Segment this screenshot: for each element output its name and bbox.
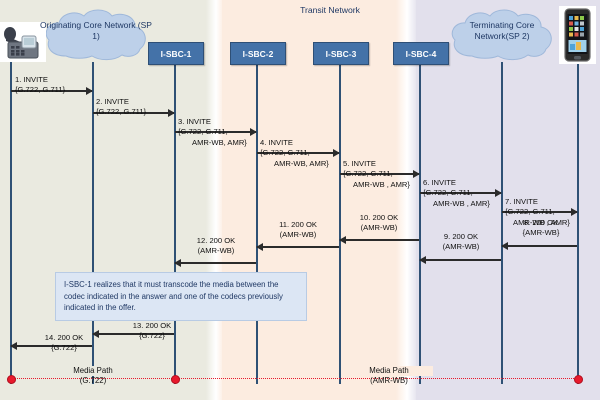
media-path-right-title: Media Path [345,366,433,376]
originating-network-cloud: Originating Core Network (SP 1) [40,8,152,64]
arrow-message-9 [420,259,501,261]
message-13-codecs: {G.722} [112,331,192,341]
node-isbc-4-label: I-SBC-4 [406,49,437,59]
message-10-codecs: (AMR-WB) [339,223,419,233]
message-1-codecs: {G.722, G.711} [15,85,65,95]
message-8: 8. 200 OK {AMR-WB} [505,218,577,239]
message-6: 6. INVITE {G.722, G.711, AMR-WB , AMR} [423,178,490,209]
message-11-codecs: (AMR-WB) [257,230,339,240]
message-8-title: 8. 200 OK [505,218,577,228]
node-isbc-1[interactable]: I-SBC-1 [148,42,204,65]
media-path-label-right: Media Path (AMR-WB) [345,366,433,386]
arrow-message-10 [340,239,419,241]
message-4-title: 4. INVITE [260,138,329,148]
media-path-right-codec: (AMR-WB) [345,376,433,386]
message-9-codecs: (AMR-WB) [421,242,501,252]
message-12-codecs: (AMR-WB) [175,246,257,256]
message-5-codecs: {G.722, G.711, [343,169,410,179]
node-isbc-2-label: I-SBC-2 [243,49,274,59]
message-2-codecs: {G.722, G.711} [96,107,146,117]
node-isbc-3-label: I-SBC-3 [326,49,357,59]
message-9: 9. 200 OK (AMR-WB) [421,232,501,253]
message-3-codecs-cont: AMR-WB, AMR} [178,138,247,148]
message-6-title: 6. INVITE [423,178,490,188]
message-7-codecs: {G.722, G.711, [505,207,570,217]
message-4-codecs-cont: AMR-WB, AMR} [260,159,329,169]
message-6-codecs: {G.722, G.711, [423,188,490,198]
message-4: 4. INVITE {G.722, G.711, AMR-WB, AMR} [260,138,329,169]
message-1: 1. INVITE {G.722, G.711} [15,75,65,96]
message-12-title: 12. 200 OK [175,236,257,246]
message-5: 5. INVITE {G.722, G.711, AMR-WB , AMR} [343,159,410,190]
message-13: 13. 200 OK {G.722} [112,321,192,342]
node-isbc-4[interactable]: I-SBC-4 [393,42,449,65]
message-3-title: 3. INVITE [178,117,247,127]
node-isbc-2[interactable]: I-SBC-2 [230,42,286,65]
message-2-title: 2. INVITE [96,97,146,107]
message-14-codecs: {G.722} [28,343,100,353]
message-4-codecs: {G.722, G.711, [260,148,329,158]
message-3: 3. INVITE {G.722, G.711, AMR-WB, AMR} [178,117,247,148]
media-path-endpoint-isbc1 [171,375,180,384]
media-path-endpoint-right [574,375,583,384]
message-10-title: 10. 200 OK [339,213,419,223]
message-11-title: 11. 200 OK [257,220,339,230]
message-5-title: 5. INVITE [343,159,410,169]
media-path-left-codec: (G.722) [53,376,133,386]
message-14: 14. 200 OK {G.722} [28,333,100,354]
lifeline-phone-left [10,62,12,384]
call-flow-diagram: Transit Network Originating Core Network… [0,0,600,400]
transcoding-note-text: I-SBC-1 realizes that it must transcode … [64,280,283,312]
originating-network-label: Originating Core Network (SP 1) [40,8,152,41]
message-3-codecs: {G.722, G.711, [178,127,247,137]
terminating-network-label: Terminating Core Network(SP 2) [446,8,558,41]
message-11: 11. 200 OK (AMR-WB) [257,220,339,241]
terminating-network-cloud: Terminating Core Network(SP 2) [446,8,558,64]
media-path-label-left: Media Path (G.722) [53,366,133,386]
media-path-endpoint-left [7,375,16,384]
transit-network-title: Transit Network [250,5,410,15]
message-6-codecs-cont: AMR-WB , AMR} [423,199,490,209]
message-1-title: 1. INVITE [15,75,65,85]
message-8-codecs: {AMR-WB} [505,228,577,238]
smartphone-icon [559,6,596,64]
message-10: 10. 200 OK (AMR-WB) [339,213,419,234]
lifeline-isbc4 [419,62,421,384]
message-14-title: 14. 200 OK [28,333,100,343]
lifeline-phone-right [577,62,579,384]
media-path-left-title: Media Path [53,366,133,376]
message-13-title: 13. 200 OK [112,321,192,331]
message-2: 2. INVITE {G.722, G.711} [96,97,146,118]
node-isbc-1-label: I-SBC-1 [161,49,192,59]
arrow-message-8 [502,245,577,247]
message-7-title: 7. INVITE [505,197,570,207]
message-5-codecs-cont: AMR-WB , AMR} [343,180,410,190]
arrow-message-12 [175,262,256,264]
transcoding-note-callout: I-SBC-1 realizes that it must transcode … [55,272,307,321]
message-9-title: 9. 200 OK [421,232,501,242]
message-12: 12. 200 OK (AMR-WB) [175,236,257,257]
node-isbc-3[interactable]: I-SBC-3 [313,42,369,65]
arrow-message-11 [257,246,339,248]
lifeline-term-cloud [501,62,503,384]
